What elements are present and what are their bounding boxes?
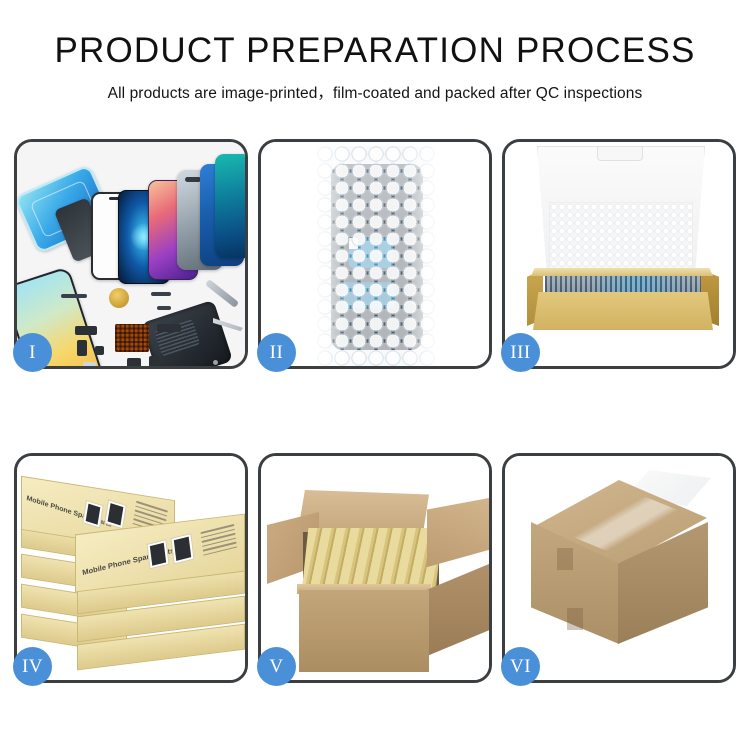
vibrator-graphic	[127, 358, 141, 366]
step-image-kraft-box-open	[505, 142, 733, 366]
products-illustration	[17, 142, 245, 366]
box-lid-tab-graphic	[597, 146, 643, 161]
sim-tray-graphic	[83, 362, 96, 366]
step-panel-carton-sealed: VI	[502, 453, 736, 683]
page-subtitle: All products are image-printed，film-coat…	[0, 81, 750, 103]
carton-seam	[567, 608, 583, 630]
box-front-graphic	[533, 292, 713, 330]
header: PRODUCT PREPARATION PROCESS All products…	[0, 0, 750, 103]
step-panel-products-overview: I	[14, 139, 248, 369]
chip-grid-graphic	[115, 324, 149, 352]
step-badge-3: III	[501, 333, 540, 372]
box-screen-thumb	[170, 533, 194, 565]
bubble-wrap-texture	[317, 146, 435, 366]
step-image-bubble-wrap	[261, 142, 489, 366]
box-stack-graphic: Mobile Phone Spare Parts Mobile Phone Sp…	[21, 470, 243, 676]
carton-front-face	[299, 590, 429, 672]
step-badge-2: II	[257, 333, 296, 372]
battery-connector-graphic	[149, 356, 159, 366]
flex-cable-graphic	[61, 294, 87, 298]
step-badge-4: IV	[13, 647, 52, 686]
speaker-module-graphic	[109, 288, 129, 308]
camera-module-graphic	[77, 340, 87, 356]
carton-flap-right	[427, 498, 489, 570]
step-panel-kraft-box-open: III	[502, 139, 736, 369]
step-badge-1: I	[13, 333, 52, 372]
step-panel-carton-filled: V	[258, 453, 492, 683]
screw-graphic	[213, 360, 218, 365]
foam-insert-graphic	[549, 202, 693, 276]
box-screen-thumb	[82, 500, 104, 529]
box-screen-thumb	[146, 539, 169, 569]
packed-boxes-graphic	[302, 528, 443, 592]
step-image-carton-sealed	[505, 456, 733, 680]
box-rim-graphic	[531, 268, 713, 276]
carton-seam	[557, 548, 573, 570]
connector-gold-graphic	[157, 306, 171, 310]
step-image-boxes-stacked: Mobile Phone Spare Parts Mobile Phone Sp…	[17, 456, 245, 680]
phone-teal-graphic	[215, 154, 245, 258]
flex-strip-graphic	[157, 324, 181, 332]
sensor-graphic	[95, 346, 104, 355]
step-panel-boxes-stacked: Mobile Phone Spare Parts Mobile Phone Sp…	[14, 453, 248, 683]
step-badge-5: V	[257, 647, 296, 686]
process-steps-grid: I II	[14, 139, 736, 683]
step-panel-bubble-wrap: II	[258, 139, 492, 369]
button-module-graphic	[75, 326, 97, 335]
step-image-carton-filled	[261, 456, 489, 680]
product-preparation-infographic: PRODUCT PREPARATION PROCESS All products…	[0, 0, 750, 750]
step-image-products-overview	[17, 142, 245, 366]
flex-cable-gold-graphic	[151, 292, 171, 296]
page-title: PRODUCT PREPARATION PROCESS	[0, 33, 750, 70]
step-badge-6: VI	[501, 647, 540, 686]
